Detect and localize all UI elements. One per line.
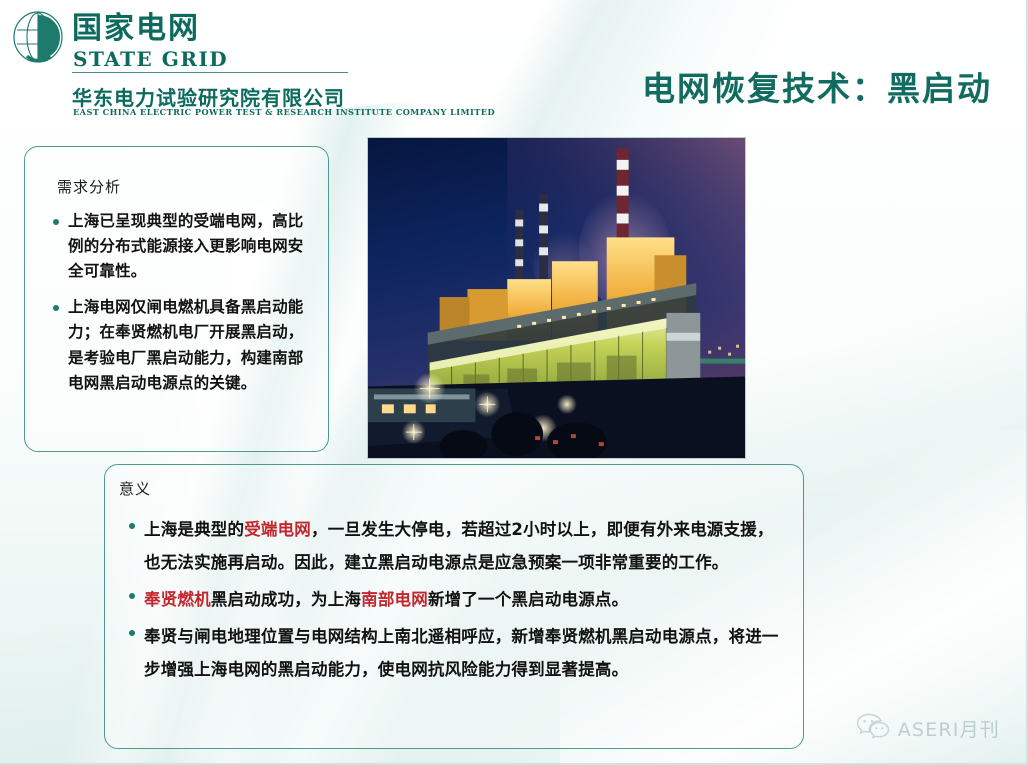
watermark-label: ASERI月刊 — [898, 715, 1000, 742]
bullet-text: 奉贤与闸电地理位置与电网结构上南北遥相呼应，新增奉贤燃机黑启动电源点，将进一步增… — [144, 627, 779, 679]
significance-panel: 意义 上海是典型的受端电网，一旦发生大停电，若超过2小时以上，即便有外来电源支援… — [104, 464, 804, 749]
requirement-analysis-bullet-list: 上海已呈现典型的受端电网，高比例的分布式能源接入更影响电网安全可靠性。上海电网仅… — [51, 209, 313, 407]
highlighted-term: 受端电网 — [244, 520, 311, 539]
highlighted-term: 南部电网 — [361, 590, 428, 609]
state-grid-globe-icon — [11, 9, 65, 65]
bullet-text: 上海已呈现典型的受端电网，高比例的分布式能源接入更影响电网安全可靠性。 — [68, 212, 304, 280]
requirement-analysis-panel: 需求分析 上海已呈现典型的受端电网，高比例的分布式能源接入更影响电网安全可靠性。… — [24, 146, 329, 452]
company-name-en: EAST CHINA ELECTRIC POWER TEST & RESEARC… — [73, 107, 495, 117]
significance-heading: 意义 — [119, 478, 151, 499]
wechat-icon — [856, 713, 890, 743]
list-item: 上海电网仅闸电燃机具备黑启动能力；在奉贤燃机电厂开展黑启动，是考验电厂黑启动能力… — [51, 295, 313, 395]
list-item: 奉贤与闸电地理位置与电网结构上南北遥相呼应，新增奉贤燃机黑启动电源点，将进一步增… — [127, 620, 787, 686]
highlighted-term: 奉贤燃机 — [144, 590, 211, 609]
bullet-text: 新增了一个黑启动电源点。 — [428, 590, 628, 609]
wechat-watermark: ASERI月刊 — [856, 713, 1000, 743]
brand-name-en: STATE GRID — [73, 47, 228, 71]
brand-name-cn: 国家电网 — [72, 13, 200, 45]
page-title: 电网恢复技术：黑启动 — [642, 62, 992, 110]
bullet-text: 黑启动成功，为上海 — [211, 590, 361, 609]
bullet-text: 上海电网仅闸电燃机具备黑启动能力；在奉贤燃机电厂开展黑启动，是考验电厂黑启动能力… — [68, 298, 304, 391]
list-item: 上海是典型的受端电网，一旦发生大停电，若超过2小时以上，即便有外来电源支援，也无… — [127, 513, 787, 579]
bullet-text: 上海是典型的 — [144, 520, 244, 539]
brand-divider — [72, 72, 348, 73]
slide-header: 国家电网 STATE GRID 华东电力试验研究院有限公司 EAST CHINA… — [0, 0, 1028, 128]
requirement-analysis-heading: 需求分析 — [57, 176, 121, 197]
significance-bullet-list: 上海是典型的受端电网，一旦发生大停电，若超过2小时以上，即便有外来电源支援，也无… — [127, 513, 787, 690]
list-item: 上海已呈现典型的受端电网，高比例的分布式能源接入更影响电网安全可靠性。 — [51, 209, 313, 284]
list-item: 奉贤燃机黑启动成功，为上海南部电网新增了一个黑启动电源点。 — [127, 583, 787, 616]
power-plant-night-photo — [367, 137, 746, 459]
slide-canvas: 国家电网 STATE GRID 华东电力试验研究院有限公司 EAST CHINA… — [0, 0, 1028, 765]
